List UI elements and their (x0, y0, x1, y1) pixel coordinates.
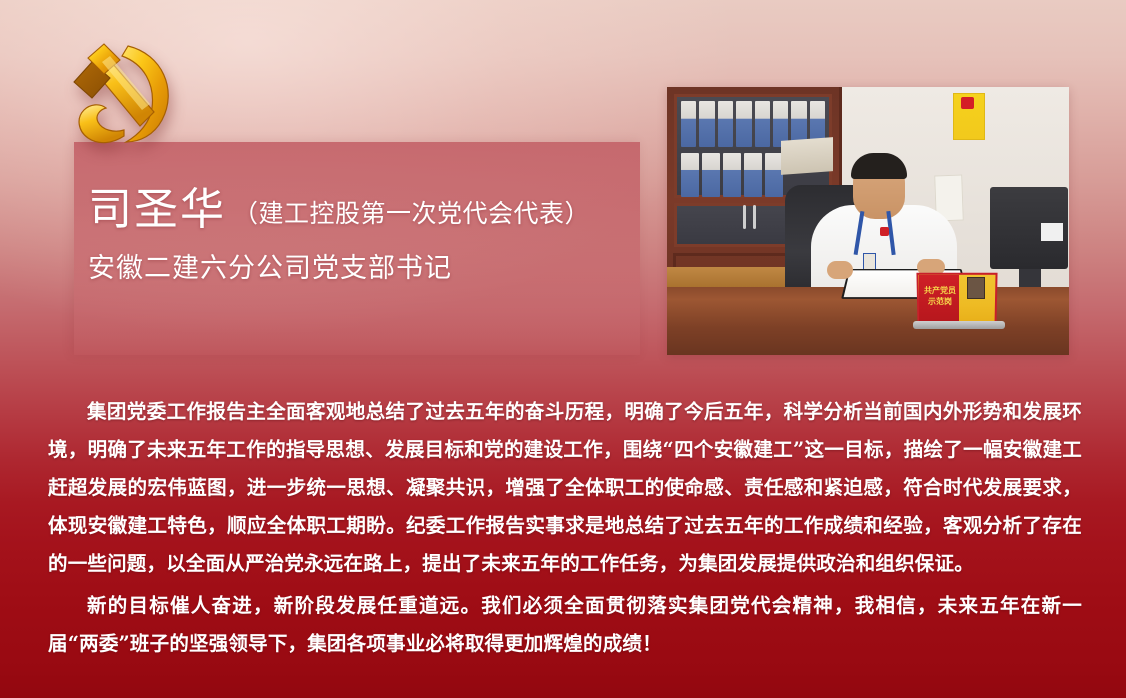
delegate-photo: 共产党员 示范岗 (667, 87, 1069, 355)
binder (736, 101, 751, 147)
cabinet-handle (753, 205, 756, 229)
desk-plate-stand (913, 321, 1005, 329)
binder (702, 153, 720, 197)
delegate-role: （建工控股第一次党代会代表） (233, 194, 590, 230)
party-member-lapel-pin-icon (880, 227, 889, 236)
person-hand-left (827, 261, 853, 279)
cabinet-glass-door-upper (674, 94, 832, 198)
binder (681, 101, 696, 147)
shelf-papers (781, 137, 833, 175)
delegate-identity-block: 司圣华 （建工控股第一次党代会代表） 安徽二建六分公司党支部书记 (88, 186, 590, 285)
delegate-name-line: 司圣华 （建工控股第一次党代会代表） (88, 186, 590, 234)
binder-row-middle (681, 153, 783, 197)
cabinet-handle (743, 205, 746, 229)
binder (744, 153, 762, 197)
hammer-and-sickle-party-emblem-icon (58, 38, 184, 156)
binder (755, 101, 770, 147)
office-scene: 共产党员 示范岗 (667, 87, 1069, 355)
delegate-name: 司圣华 (88, 186, 226, 234)
article-body: 集团党委工作报告主全面客观地总结了过去五年的奋斗历程，明确了今后五年，科学分析当… (48, 393, 1082, 667)
binder (723, 153, 741, 197)
article-paragraph-1: 集团党委工作报告主全面客观地总结了过去五年的奋斗历程，明确了今后五年，科学分析当… (48, 393, 1082, 583)
binder (681, 153, 699, 197)
delegate-position-title: 安徽二建六分公司党支部书记 (88, 246, 590, 285)
desk-plate-portrait (967, 277, 985, 299)
party-emblem-on-poster-icon (961, 97, 974, 109)
binder (718, 101, 733, 147)
binder (699, 101, 714, 147)
article-paragraph-2: 新的目标催人奋进，新阶段发展任重道远。我们必须全面贯彻落实集团党代会精神，我相信… (48, 587, 1082, 663)
delegate-profile-poster: 司圣华 （建工控股第一次党代会代表） 安徽二建六分公司党支部书记 (0, 0, 1126, 698)
desk-plate-label: 共产党员 示范岗 (923, 285, 957, 307)
monitor-sticker (1041, 223, 1063, 241)
